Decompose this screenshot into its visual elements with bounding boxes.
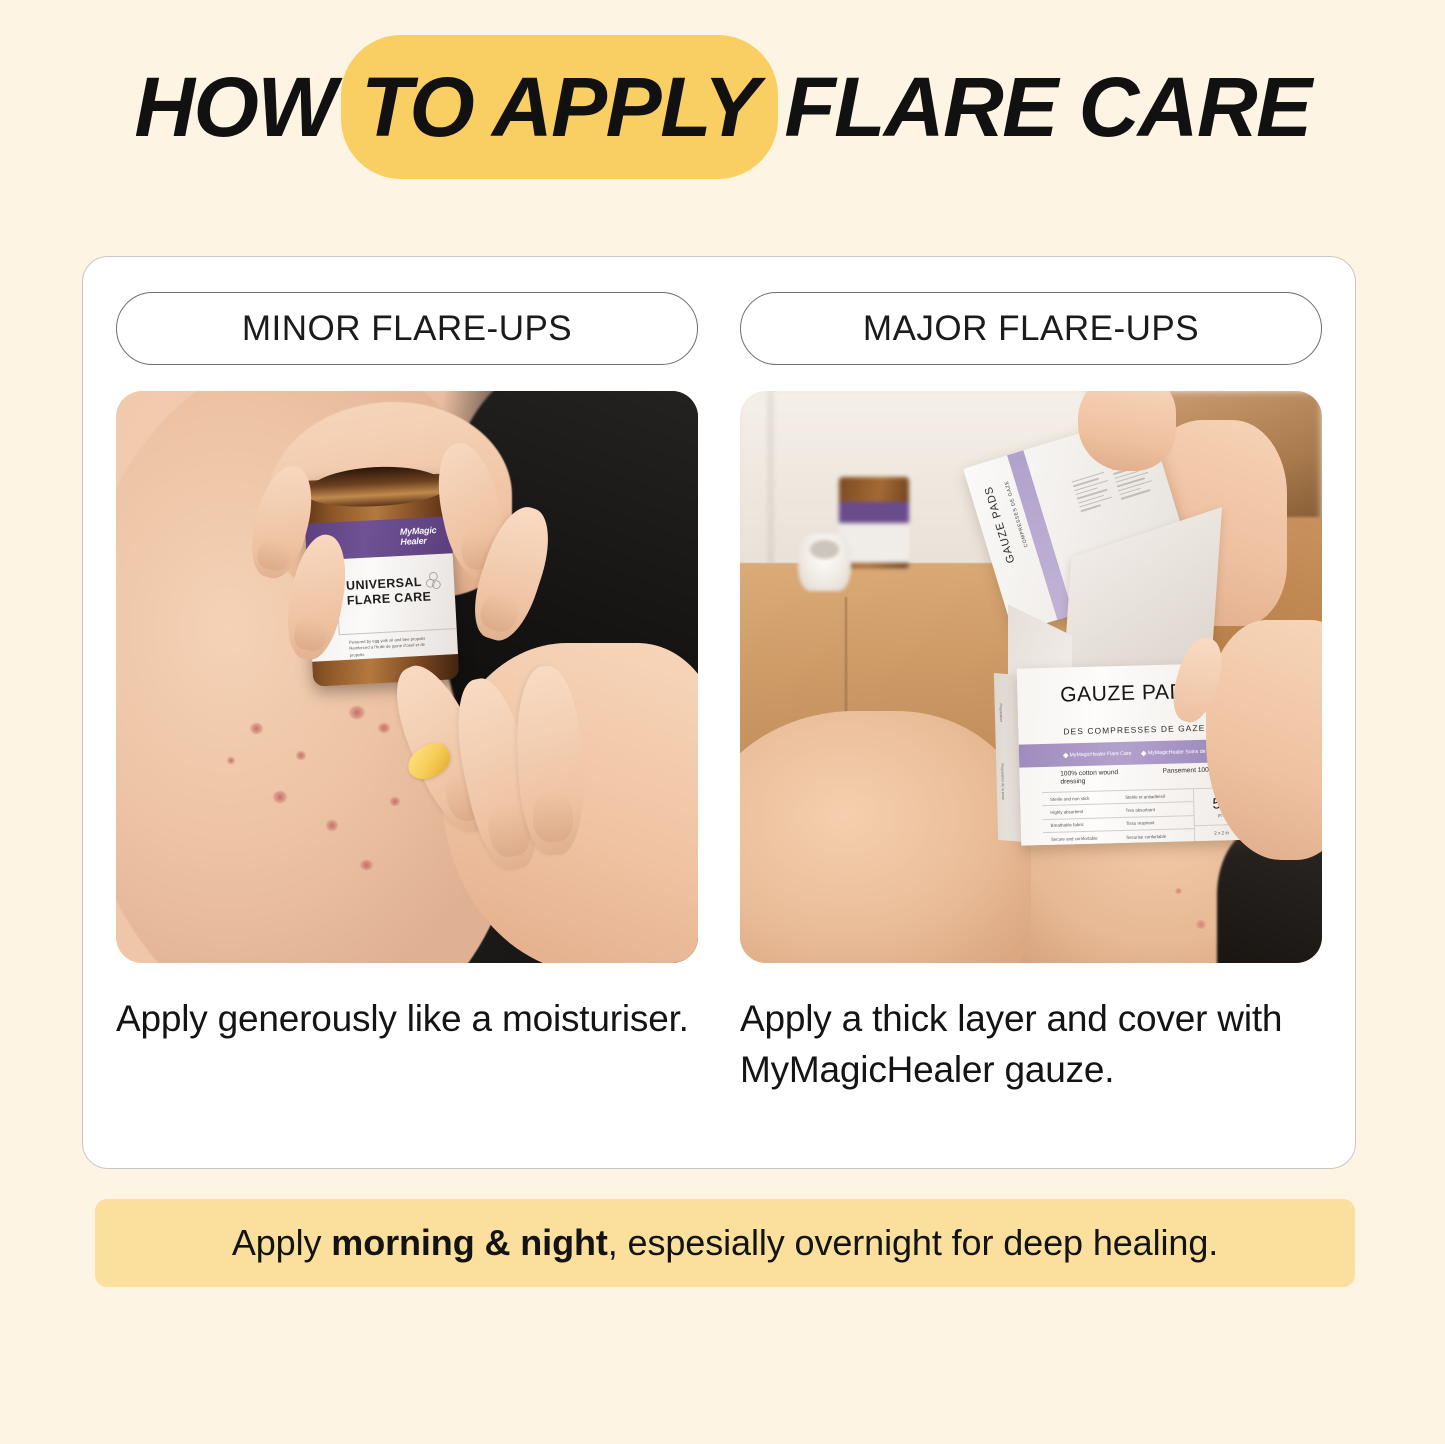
- gauze-band-item-en: MyMagicHealer Flare Care: [1064, 750, 1132, 758]
- leg-front: [740, 711, 1031, 963]
- banner-text-pre: Apply: [232, 1222, 331, 1263]
- banner-text: Apply morning & night, espesially overni…: [232, 1222, 1218, 1264]
- feature-fr: Tissu respirant: [1118, 815, 1194, 829]
- fingernail: [531, 787, 573, 842]
- fingernail: [254, 535, 293, 574]
- jar-brand-line-2: Healer: [400, 536, 437, 547]
- column-major-flare-ups: MAJOR FLARE-UPS: [740, 292, 1322, 1138]
- title-word-to-apply: TO APPLY: [361, 65, 758, 149]
- jar-label-rule: [338, 628, 456, 635]
- honeycomb-icon: [425, 571, 443, 594]
- jar-fine-print: Powered by egg yolk oil and bee propolis…: [349, 635, 440, 659]
- jar-brand-logo: MyMagic Healer: [400, 526, 438, 547]
- bottom-banner: Apply morning & night, espesially overni…: [95, 1199, 1355, 1287]
- pill-minor-label: MINOR FLARE-UPS: [242, 309, 572, 349]
- title-word-flare-care: FLARE CARE: [780, 65, 1314, 149]
- feature-fr: Securise confortable: [1119, 829, 1195, 843]
- major-flare-up-photo: GAUZE PADS COMPRESSES DE GAZE 5: [740, 391, 1322, 963]
- page-title: HOW TO APPLY FLARE CARE: [130, 65, 1314, 149]
- pill-major-label: MAJOR FLARE-UPS: [863, 309, 1199, 349]
- gauze-box-subtitle: DES COMPRESSES DE GAZE: [1063, 722, 1205, 736]
- gauze-box-side-text-bottom: Preparation de la peau: [999, 763, 1005, 800]
- gauze-feature-rows: Sterile and non stick Sterile et antiadh…: [1042, 789, 1194, 845]
- caption-minor: Apply generously like a moisturiser.: [116, 993, 698, 1044]
- feature-fr: Tres absorbant: [1118, 802, 1194, 816]
- infographic-page: HOW TO APPLY FLARE CARE MINOR FLARE-UPS: [0, 0, 1445, 1444]
- medical-tape-roll: [798, 534, 850, 591]
- gauze-band-label-en: MyMagicHealer Flare Care: [1070, 750, 1132, 758]
- caption-major: Apply a thick layer and cover with MyMag…: [740, 993, 1322, 1095]
- feature-en: Highly absorbent: [1043, 804, 1119, 818]
- fingernail: [291, 613, 329, 653]
- gauze-claim-en: 100% cotton wound dressing: [1042, 766, 1145, 792]
- instructions-card: MINOR FLARE-UPS: [82, 256, 1356, 1169]
- feature-en: Breathable fabric: [1043, 817, 1119, 831]
- diamond-icon: [1063, 752, 1068, 757]
- packet-purple-band: [1008, 450, 1075, 619]
- feature-en: Secure and comfortable: [1043, 831, 1119, 845]
- column-minor-flare-ups: MINOR FLARE-UPS: [116, 292, 698, 1138]
- skin-spot: [326, 820, 338, 831]
- page-header: HOW TO APPLY FLARE CARE: [0, 48, 1445, 166]
- banner-text-post: , espesially overnight for deep healing.: [608, 1222, 1218, 1263]
- banner-text-bold: morning & night: [331, 1222, 607, 1263]
- background-jar-band: [839, 502, 909, 522]
- title-word-how: HOW: [130, 65, 339, 149]
- skin-spot: [390, 797, 400, 806]
- minor-flare-up-photo: MyMagic Healer Ingredients / Ingredients…: [116, 391, 698, 963]
- couch-seam: [845, 597, 847, 723]
- fingernail: [476, 588, 522, 636]
- title-highlight-pill: TO APPLY: [341, 65, 778, 149]
- skin-spot: [250, 723, 263, 734]
- pill-major-flare-ups: MAJOR FLARE-UPS: [740, 292, 1322, 365]
- instruction-columns: MINOR FLARE-UPS: [83, 257, 1355, 1168]
- gauze-box-side-text-top: Preparation: [998, 703, 1004, 722]
- skin-spot: [227, 757, 235, 764]
- pill-minor-flare-ups: MINOR FLARE-UPS: [116, 292, 698, 365]
- feature-fr: Sterile et antiadhesif: [1118, 789, 1194, 803]
- skin-spot: [349, 706, 365, 719]
- skin-spot: [1196, 920, 1206, 929]
- skin-spot: [378, 723, 390, 733]
- jar-product-title: UNIVERSAL FLARE CARE: [346, 575, 432, 609]
- diamond-icon: [1142, 750, 1147, 755]
- feature-en: Sterile and non stick: [1042, 791, 1118, 805]
